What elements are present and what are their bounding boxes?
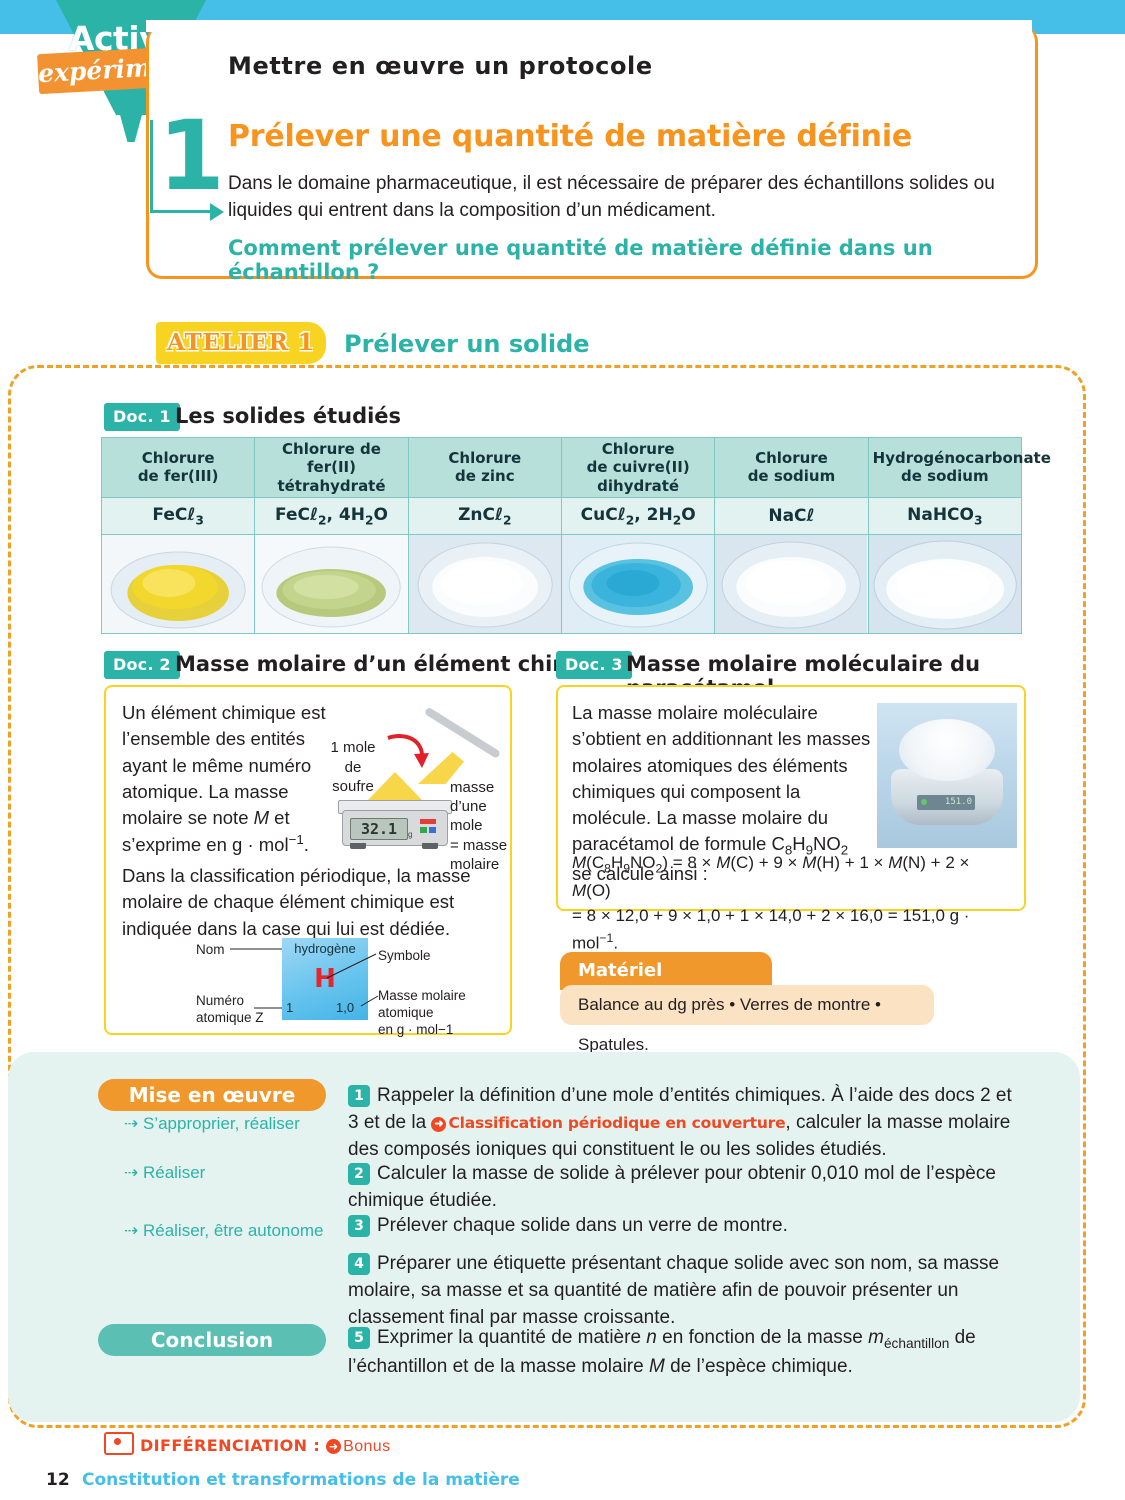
competence-label: Réaliser <box>143 1163 205 1182</box>
col-name-line1: Chlorure <box>755 449 828 467</box>
question-arrow-stem <box>150 120 153 213</box>
funnel-stem-icon <box>116 100 146 142</box>
atelier-title: Prélever un solide <box>344 330 590 358</box>
header-top-mask <box>146 20 1032 32</box>
doc3-chip: Doc. 3 <box>556 651 632 679</box>
doc2-paragraph-1: Un élément chimique est l’ensemble des e… <box>122 700 337 859</box>
differenciation-label: DIFFÉRENCIATION : <box>140 1436 320 1455</box>
table-header-cell: Chlorurede zinc <box>408 438 561 498</box>
doc1-chip: Doc. 1 <box>104 403 180 431</box>
activity-title: Prélever une quantité de matière définie <box>228 119 912 154</box>
label-line1: masse <box>450 779 494 796</box>
label-line3: = masse <box>450 837 507 854</box>
mise-en-oeuvre-title: Mise en œuvre <box>98 1079 326 1111</box>
label-line3: soufre <box>332 778 374 795</box>
atelier-chip: ATELIER 1 <box>156 322 326 364</box>
col-name-line2: de sodium <box>748 467 836 485</box>
col-name-line2: de cuivre(II) dihydraté <box>587 458 690 494</box>
question-item-2: 2Calculer la masse de solide à prélever … <box>348 1160 1020 1214</box>
periodic-cell-illustration: hydrogène H 1 1,0 Nom Numéro atomique Z … <box>196 938 496 1026</box>
col-name-line1: Chlorure <box>142 449 215 467</box>
balance-foot-right-icon <box>422 843 438 849</box>
question-item-1: 1Rappeler la définition d’une mole d’ent… <box>348 1082 1020 1163</box>
table-header-cell: Hydrogénocarbonatede sodium <box>868 438 1021 498</box>
paracetamol-balance-photo: 151.0 <box>877 703 1017 848</box>
formula-cell: FeCℓ3 <box>102 497 255 534</box>
sample-photo-nacl-icon <box>715 535 867 633</box>
watch-glass-powder-icon <box>899 719 995 781</box>
label-symbole: Symbole <box>378 948 431 965</box>
sulfur-balance-illustration: 1 mole de soufre 32.1 g masse d’une mole… <box>330 700 505 860</box>
conclusion-title: Conclusion <box>98 1324 326 1356</box>
competence-item-2: ⇢ Réaliser <box>124 1163 205 1183</box>
chapter-title: Constitution et transformations de la ma… <box>82 1470 520 1490</box>
question-number: 5 <box>348 1327 370 1349</box>
col-name-line1: Chlorure <box>448 449 521 467</box>
label-line1: Numéro <box>196 993 244 1008</box>
label-line2: de <box>345 759 362 776</box>
question-item-4: 4Préparer une étiquette présentant chaqu… <box>348 1250 1020 1331</box>
question-arrow-line <box>150 210 212 213</box>
sample-photo-fecl3-icon <box>102 535 254 633</box>
table-header-cell: Chlorure de fer(II)tétrahydraté <box>255 438 408 498</box>
question-text: Préparer une étiquette présentant chaque… <box>348 1253 999 1328</box>
table-photo-row <box>102 534 1022 633</box>
balance-indicator-icon <box>921 799 927 805</box>
table-header-cell: Chlorurede sodium <box>715 438 868 498</box>
sample-photo-nahco3-icon <box>869 535 1021 633</box>
col-name-line1: Chlorure de fer(II) <box>282 440 381 476</box>
label-one-mole-sulfur: 1 mole de soufre <box>322 738 384 797</box>
sample-photo-cell <box>102 534 255 633</box>
sample-photo-cell <box>561 534 714 633</box>
materiel-body: Balance au dg près • Verres de montre • … <box>560 985 934 1025</box>
label-mass-of-one-mole: masse d’une mole = masse molaire <box>450 778 514 874</box>
question-number: 3 <box>348 1215 370 1237</box>
col-name-line1: Hydrogénocarbonate <box>873 449 1051 467</box>
balance-led-red-icon <box>420 819 436 824</box>
competence-label: S’approprier, réaliser <box>143 1114 300 1133</box>
sample-photo-cucl2-icon <box>562 535 714 633</box>
label-line1: Masse molaire atomique <box>378 988 466 1020</box>
activity-number: 1 <box>158 108 225 204</box>
col-name-line2: tétrahydraté <box>277 477 385 495</box>
sample-photo-cell <box>715 534 868 633</box>
label-line2: en g · mol−1 <box>378 1022 453 1037</box>
question-text: Prélever chaque solide dans un verre de … <box>377 1215 788 1236</box>
balance-display: 32.1 <box>350 818 408 840</box>
formula-cell: NaCℓ <box>715 497 868 534</box>
formula-cell: ZnCℓ2 <box>408 497 561 534</box>
label-numero-atomique: Numéro atomique Z <box>196 993 264 1027</box>
formula-cell: CuCℓ2, 2H2O <box>561 497 714 534</box>
table-header-cell: Chlorurede fer(III) <box>102 438 255 498</box>
sample-photo-cell <box>255 534 408 633</box>
balance-foot-left-icon <box>350 843 366 849</box>
sample-photo-zncl2-icon <box>409 535 561 633</box>
red-curved-arrow-icon <box>384 734 430 770</box>
label-line2: atomique Z <box>196 1010 264 1025</box>
balance-led-green-icon <box>420 827 427 833</box>
differenciation-row[interactable]: DIFFÉRENCIATION : ➜Bonus <box>104 1432 391 1456</box>
sample-photo-fecl2-icon <box>255 535 407 633</box>
question-item-5: 5Exprimer la quantité de matière n en fo… <box>348 1324 1020 1381</box>
formula-cell: FeCℓ2, 4H2O <box>255 497 408 534</box>
competence-label: Réaliser, être autonome <box>143 1221 324 1240</box>
col-name-line2: de fer(III) <box>138 467 219 485</box>
question-number: 4 <box>348 1253 370 1275</box>
balance-led-blue-icon <box>429 827 436 833</box>
doc1-title: Les solides étudiés <box>175 404 401 428</box>
doc2-paragraph-2: Dans la classification périodique, la ma… <box>122 863 494 942</box>
spatula-handle-icon <box>424 707 501 759</box>
page-number: 12 <box>46 1470 70 1490</box>
table-header-cell: Chlorurede cuivre(II) dihydraté <box>561 438 714 498</box>
doc2-chip: Doc. 2 <box>104 651 180 679</box>
question-arrow-head-icon <box>210 203 224 221</box>
screen-icon <box>104 1432 134 1455</box>
balance-unit: g <box>408 830 412 839</box>
table-header-row: Chlorurede fer(III) Chlorure de fer(II)t… <box>102 438 1022 498</box>
table-formula-row: FeCℓ3 FeCℓ2, 4H2O ZnCℓ2 CuCℓ2, 2H2O NaCℓ… <box>102 497 1022 534</box>
question-item-3: 3Prélever chaque solide dans un verre de… <box>348 1212 1020 1239</box>
question-text: Calculer la masse de solide à prélever p… <box>348 1163 996 1211</box>
link-arrow-icon: ➜ <box>431 1117 446 1132</box>
label-line2: d’une mole <box>450 798 487 834</box>
sample-photo-cell <box>868 534 1021 633</box>
label-nom: Nom <box>196 942 225 959</box>
competence-item-1: ⇢ S’approprier, réaliser <box>124 1114 300 1134</box>
bonus-link[interactable]: Bonus <box>343 1438 390 1455</box>
textbook-page: Activité expérimentale Mettre en œuvre u… <box>0 0 1125 1500</box>
question-number: 1 <box>348 1085 370 1107</box>
label-line4: molaire <box>450 856 499 873</box>
label-masse-molaire-atomique: Masse molaire atomique en g · mol−1 <box>378 988 496 1039</box>
doc1-solids-table: Chlorurede fer(III) Chlorure de fer(II)t… <box>101 437 1022 634</box>
doc3-formula: M(C8H9NO2) = 8 × M(C) + 9 × M(H) + 1 × M… <box>572 850 1012 956</box>
col-name-line2: de sodium <box>901 467 989 485</box>
competence-item-3: ⇢ Réaliser, être autonome <box>124 1221 323 1241</box>
sample-photo-cell <box>408 534 561 633</box>
activity-question: Comment prélever une quantité de matière… <box>228 236 1028 284</box>
activity-intro: Dans le domaine pharmaceutique, il est n… <box>228 171 1018 225</box>
protocol-label: Mettre en œuvre un protocole <box>228 52 653 80</box>
formula-cell: NaHCO3 <box>868 497 1021 534</box>
label-line1: 1 mole <box>330 739 375 756</box>
question-number: 2 <box>348 1163 370 1185</box>
atelier-chip-label: ATELIER 1 <box>156 322 326 364</box>
question-link[interactable]: Classification périodique en couverture <box>448 1114 785 1132</box>
bonus-arrow-icon: ➜ <box>326 1439 341 1454</box>
col-name-line1: Chlorure <box>602 440 675 458</box>
col-name-line2: de zinc <box>455 467 515 485</box>
